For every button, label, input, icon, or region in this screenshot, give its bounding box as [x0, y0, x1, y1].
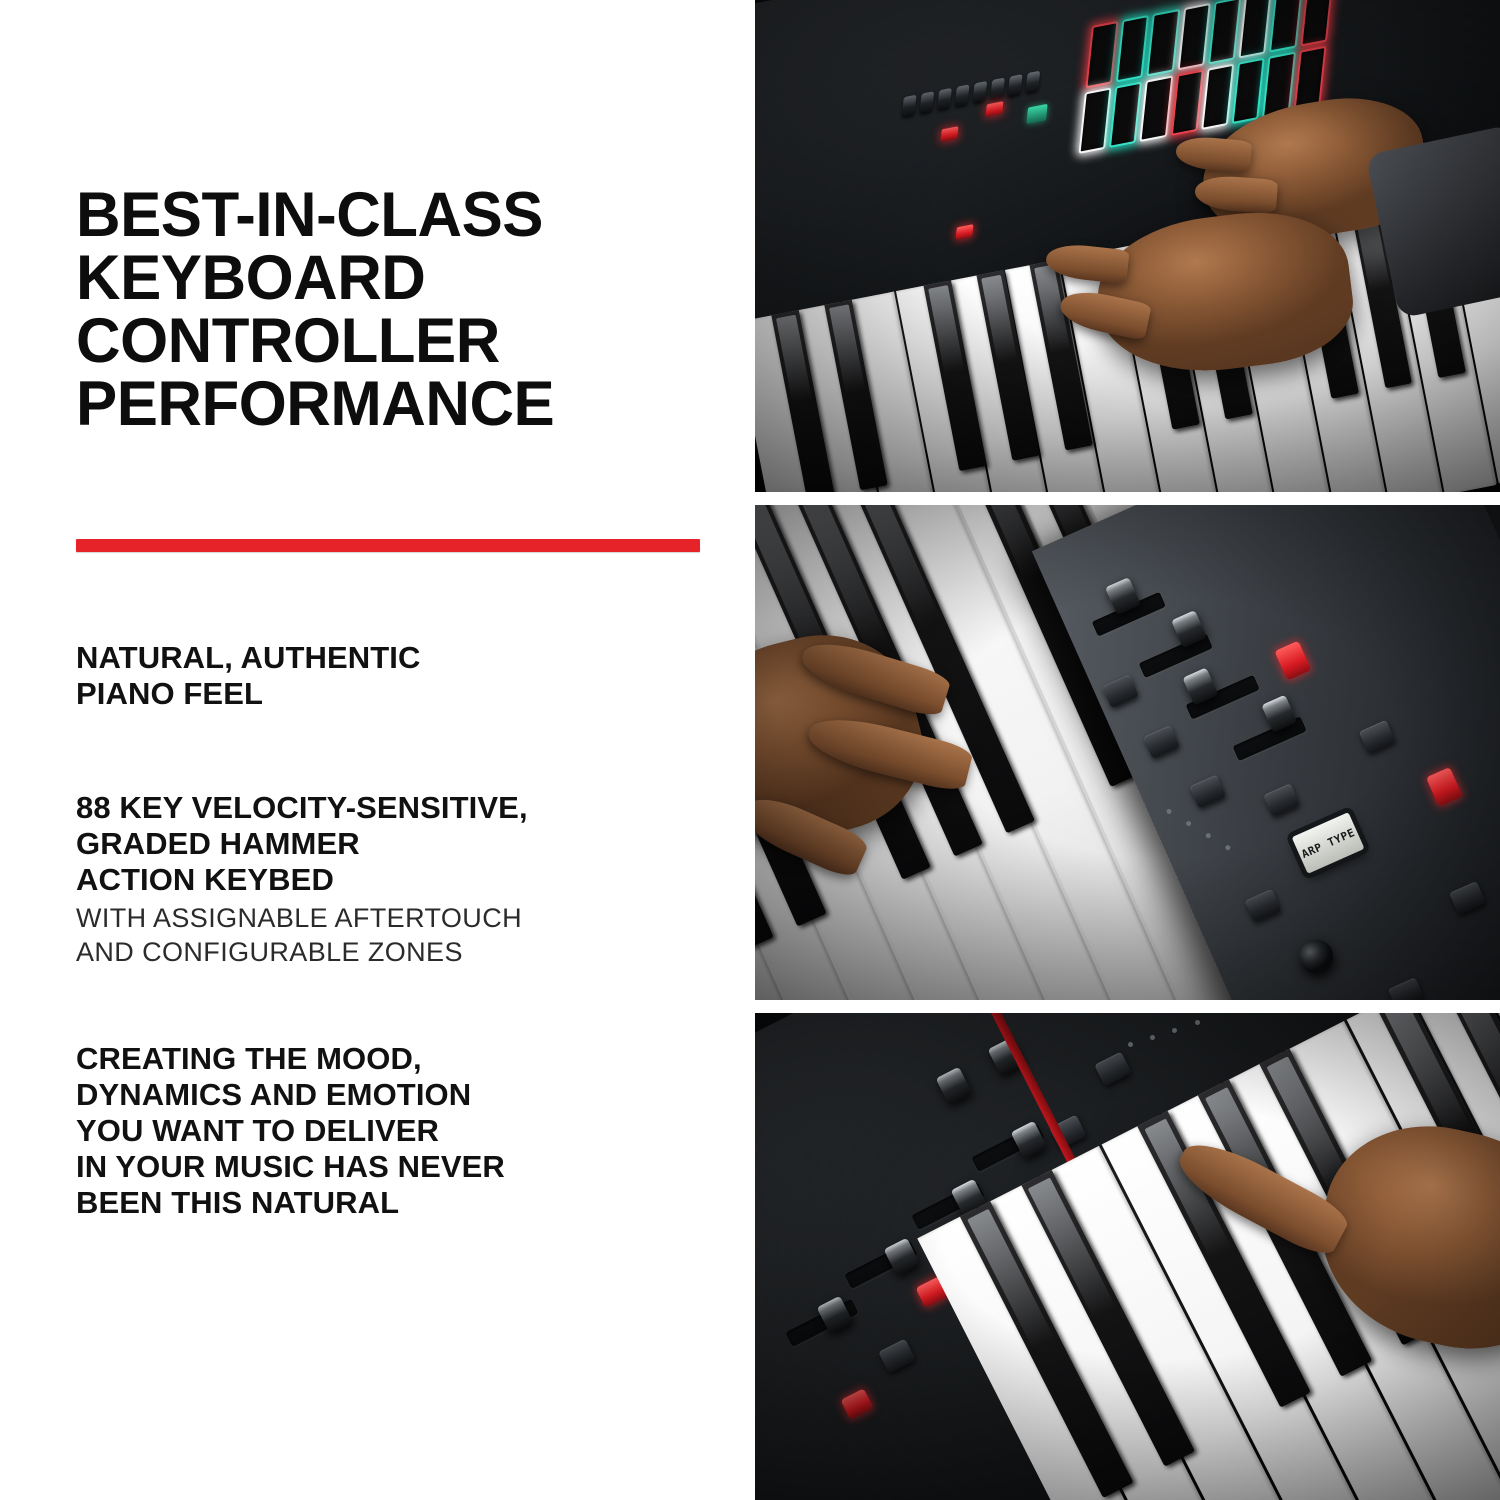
function-button[interactable] — [1245, 888, 1282, 922]
feature-heading: CREATING THE MOOD, DYNAMICS AND EMOTION … — [76, 1041, 716, 1221]
black-key — [1030, 260, 1093, 451]
feature-heading: 88 KEY VELOCITY-SENSITIVE, GRADED HAMMER… — [76, 790, 716, 898]
knob-icon — [919, 91, 934, 113]
spacer — [76, 969, 716, 1041]
drum-pad — [1147, 9, 1180, 76]
photo-column: ARP TYPE — [755, 0, 1500, 1500]
status-led — [1225, 844, 1232, 851]
feature-creating-the-mood: CREATING THE MOOD, DYNAMICS AND EMOTION … — [76, 1041, 716, 1221]
feature-heading-line: DYNAMICS AND EMOTION — [76, 1077, 716, 1113]
text-column: BEST-IN-CLASS KEYBOARD CONTROLLER PERFOR… — [0, 0, 755, 1500]
drum-pad — [1109, 81, 1142, 148]
status-led — [1167, 808, 1174, 815]
feature-heading-line: 88 KEY VELOCITY-SENSITIVE, — [76, 790, 716, 826]
black-key — [976, 270, 1039, 461]
feature-heading-line: NATURAL, AUTHENTIC — [76, 640, 716, 676]
lcd-text: ARP TYPE — [1300, 826, 1357, 860]
status-led — [1186, 820, 1193, 827]
drum-pad — [1140, 75, 1173, 142]
headline-line-3: CONTROLLER — [76, 310, 723, 373]
function-button[interactable] — [1449, 880, 1486, 914]
photo-control-surface-lcd: ARP TYPE — [755, 505, 1500, 1000]
feature-list: NATURAL, AUTHENTIC PIANO FEEL 88 KEY VEL… — [76, 640, 716, 1221]
feature-subtext-line: WITH ASSIGNABLE AFTERTOUCH — [76, 902, 716, 936]
function-button[interactable] — [1388, 977, 1425, 1000]
feature-heading-line: IN YOUR MUSIC HAS NEVER — [76, 1149, 716, 1185]
function-button[interactable] — [1144, 725, 1181, 759]
page-title: BEST-IN-CLASS KEYBOARD CONTROLLER PERFOR… — [76, 184, 723, 436]
red-accent-divider — [76, 539, 700, 552]
black-key — [771, 310, 834, 492]
headline-line-4: PERFORMANCE — [76, 373, 723, 436]
knob-icon — [902, 94, 917, 116]
drum-pad — [1177, 3, 1210, 70]
function-button[interactable] — [1102, 674, 1139, 708]
lcd-display: ARP TYPE — [1292, 812, 1365, 874]
drum-pad — [1116, 15, 1149, 82]
photo-pads-two-hands — [755, 0, 1500, 492]
drum-pad — [1232, 57, 1265, 124]
knob-icon — [1008, 74, 1023, 96]
panel-gutter — [755, 1000, 1500, 1013]
feature-88-key-graded-hammer-action: 88 KEY VELOCITY-SENSITIVE, GRADED HAMMER… — [76, 790, 716, 969]
function-button[interactable] — [1264, 782, 1301, 816]
drum-pad — [1269, 0, 1302, 52]
status-led — [1195, 1020, 1200, 1025]
status-led — [1206, 832, 1213, 839]
feature-subtext: WITH ASSIGNABLE AFTERTOUCH AND CONFIGURA… — [76, 902, 716, 970]
knob-icon — [972, 80, 987, 102]
feature-heading-line: ACTION KEYBED — [76, 862, 716, 898]
status-led — [1128, 1042, 1133, 1047]
black-key — [923, 280, 986, 471]
drum-pad — [1239, 0, 1272, 58]
drum-pad — [1201, 63, 1234, 130]
knob-icon — [990, 77, 1005, 99]
knob-icon — [1025, 70, 1040, 92]
function-button[interactable] — [1359, 719, 1396, 753]
knob-icon — [937, 87, 952, 109]
feature-natural-authentic-piano-feel: NATURAL, AUTHENTIC PIANO FEEL — [76, 640, 716, 712]
feature-heading: NATURAL, AUTHENTIC PIANO FEEL — [76, 640, 716, 712]
feature-subtext-line: AND CONFIGURABLE ZONES — [76, 936, 716, 970]
function-button[interactable] — [1189, 774, 1226, 808]
spacer — [76, 712, 716, 790]
feature-heading-line: BEEN THIS NATURAL — [76, 1185, 716, 1221]
product-feature-page: BEST-IN-CLASS KEYBOARD CONTROLLER PERFOR… — [0, 0, 1500, 1500]
red-button[interactable] — [1275, 640, 1312, 680]
feature-heading-line: CREATING THE MOOD, — [76, 1041, 716, 1077]
drum-pad — [1208, 0, 1241, 64]
panel-gutter — [755, 492, 1500, 505]
status-led — [1172, 1028, 1177, 1033]
knob-icon — [955, 84, 970, 106]
photo-faders-finger — [755, 1013, 1500, 1500]
rotary-encoder[interactable] — [1294, 934, 1339, 979]
headline-line-1: BEST-IN-CLASS — [76, 184, 723, 247]
black-key — [824, 300, 887, 491]
status-led — [1150, 1035, 1155, 1040]
feature-heading-line: PIANO FEEL — [76, 676, 716, 712]
feature-heading-line: GRADED HAMMER — [76, 826, 716, 862]
feature-heading-line: YOU WANT TO DELIVER — [76, 1113, 716, 1149]
headline-line-2: KEYBOARD — [76, 247, 723, 310]
red-button[interactable] — [1426, 767, 1463, 807]
drum-pad — [1170, 69, 1203, 136]
